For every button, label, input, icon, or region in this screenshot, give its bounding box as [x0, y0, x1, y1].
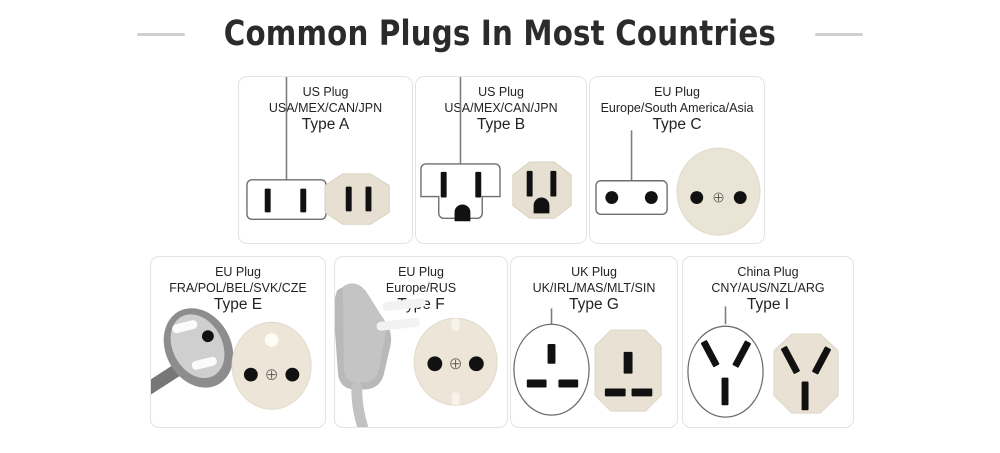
plug-card-type-f[interactable]: EU Plug Europe/RUS Type F: [334, 256, 508, 428]
page-title-bar: Common Plugs In Most Countries: [0, 14, 1000, 54]
plug-illustration-type-c: [590, 77, 764, 243]
plug-illustration-type-i: [683, 257, 853, 427]
plug-card-type-b[interactable]: US Plug USA/MEX/CAN/JPN Type B: [415, 76, 587, 244]
plug-card-type-g[interactable]: UK Plug UK/IRL/MAS/MLT/SIN Type G: [510, 256, 678, 428]
plug-illustration-type-g: [511, 257, 677, 427]
plug-card-type-i[interactable]: China Plug CNY/AUS/NZL/ARG Type I: [682, 256, 854, 428]
plug-illustration-type-f: [335, 257, 507, 427]
page-title: Common Plugs In Most Countries: [224, 14, 776, 54]
title-rule-left: [137, 33, 185, 36]
plug-illustration-type-a: [239, 77, 412, 243]
plug-card-type-c[interactable]: EU Plug Europe/South America/Asia Type C: [589, 76, 765, 244]
plug-card-type-a[interactable]: US Plug USA/MEX/CAN/JPN Type A: [238, 76, 413, 244]
plug-illustration-type-e: [151, 257, 325, 427]
plug-card-type-e[interactable]: EU Plug FRA/POL/BEL/SVK/CZE Type E: [150, 256, 326, 428]
infographic-root: Common Plugs In Most Countries US Plug U…: [0, 0, 1000, 453]
plug-illustration-type-b: [416, 77, 586, 243]
title-rule-right: [815, 33, 863, 36]
